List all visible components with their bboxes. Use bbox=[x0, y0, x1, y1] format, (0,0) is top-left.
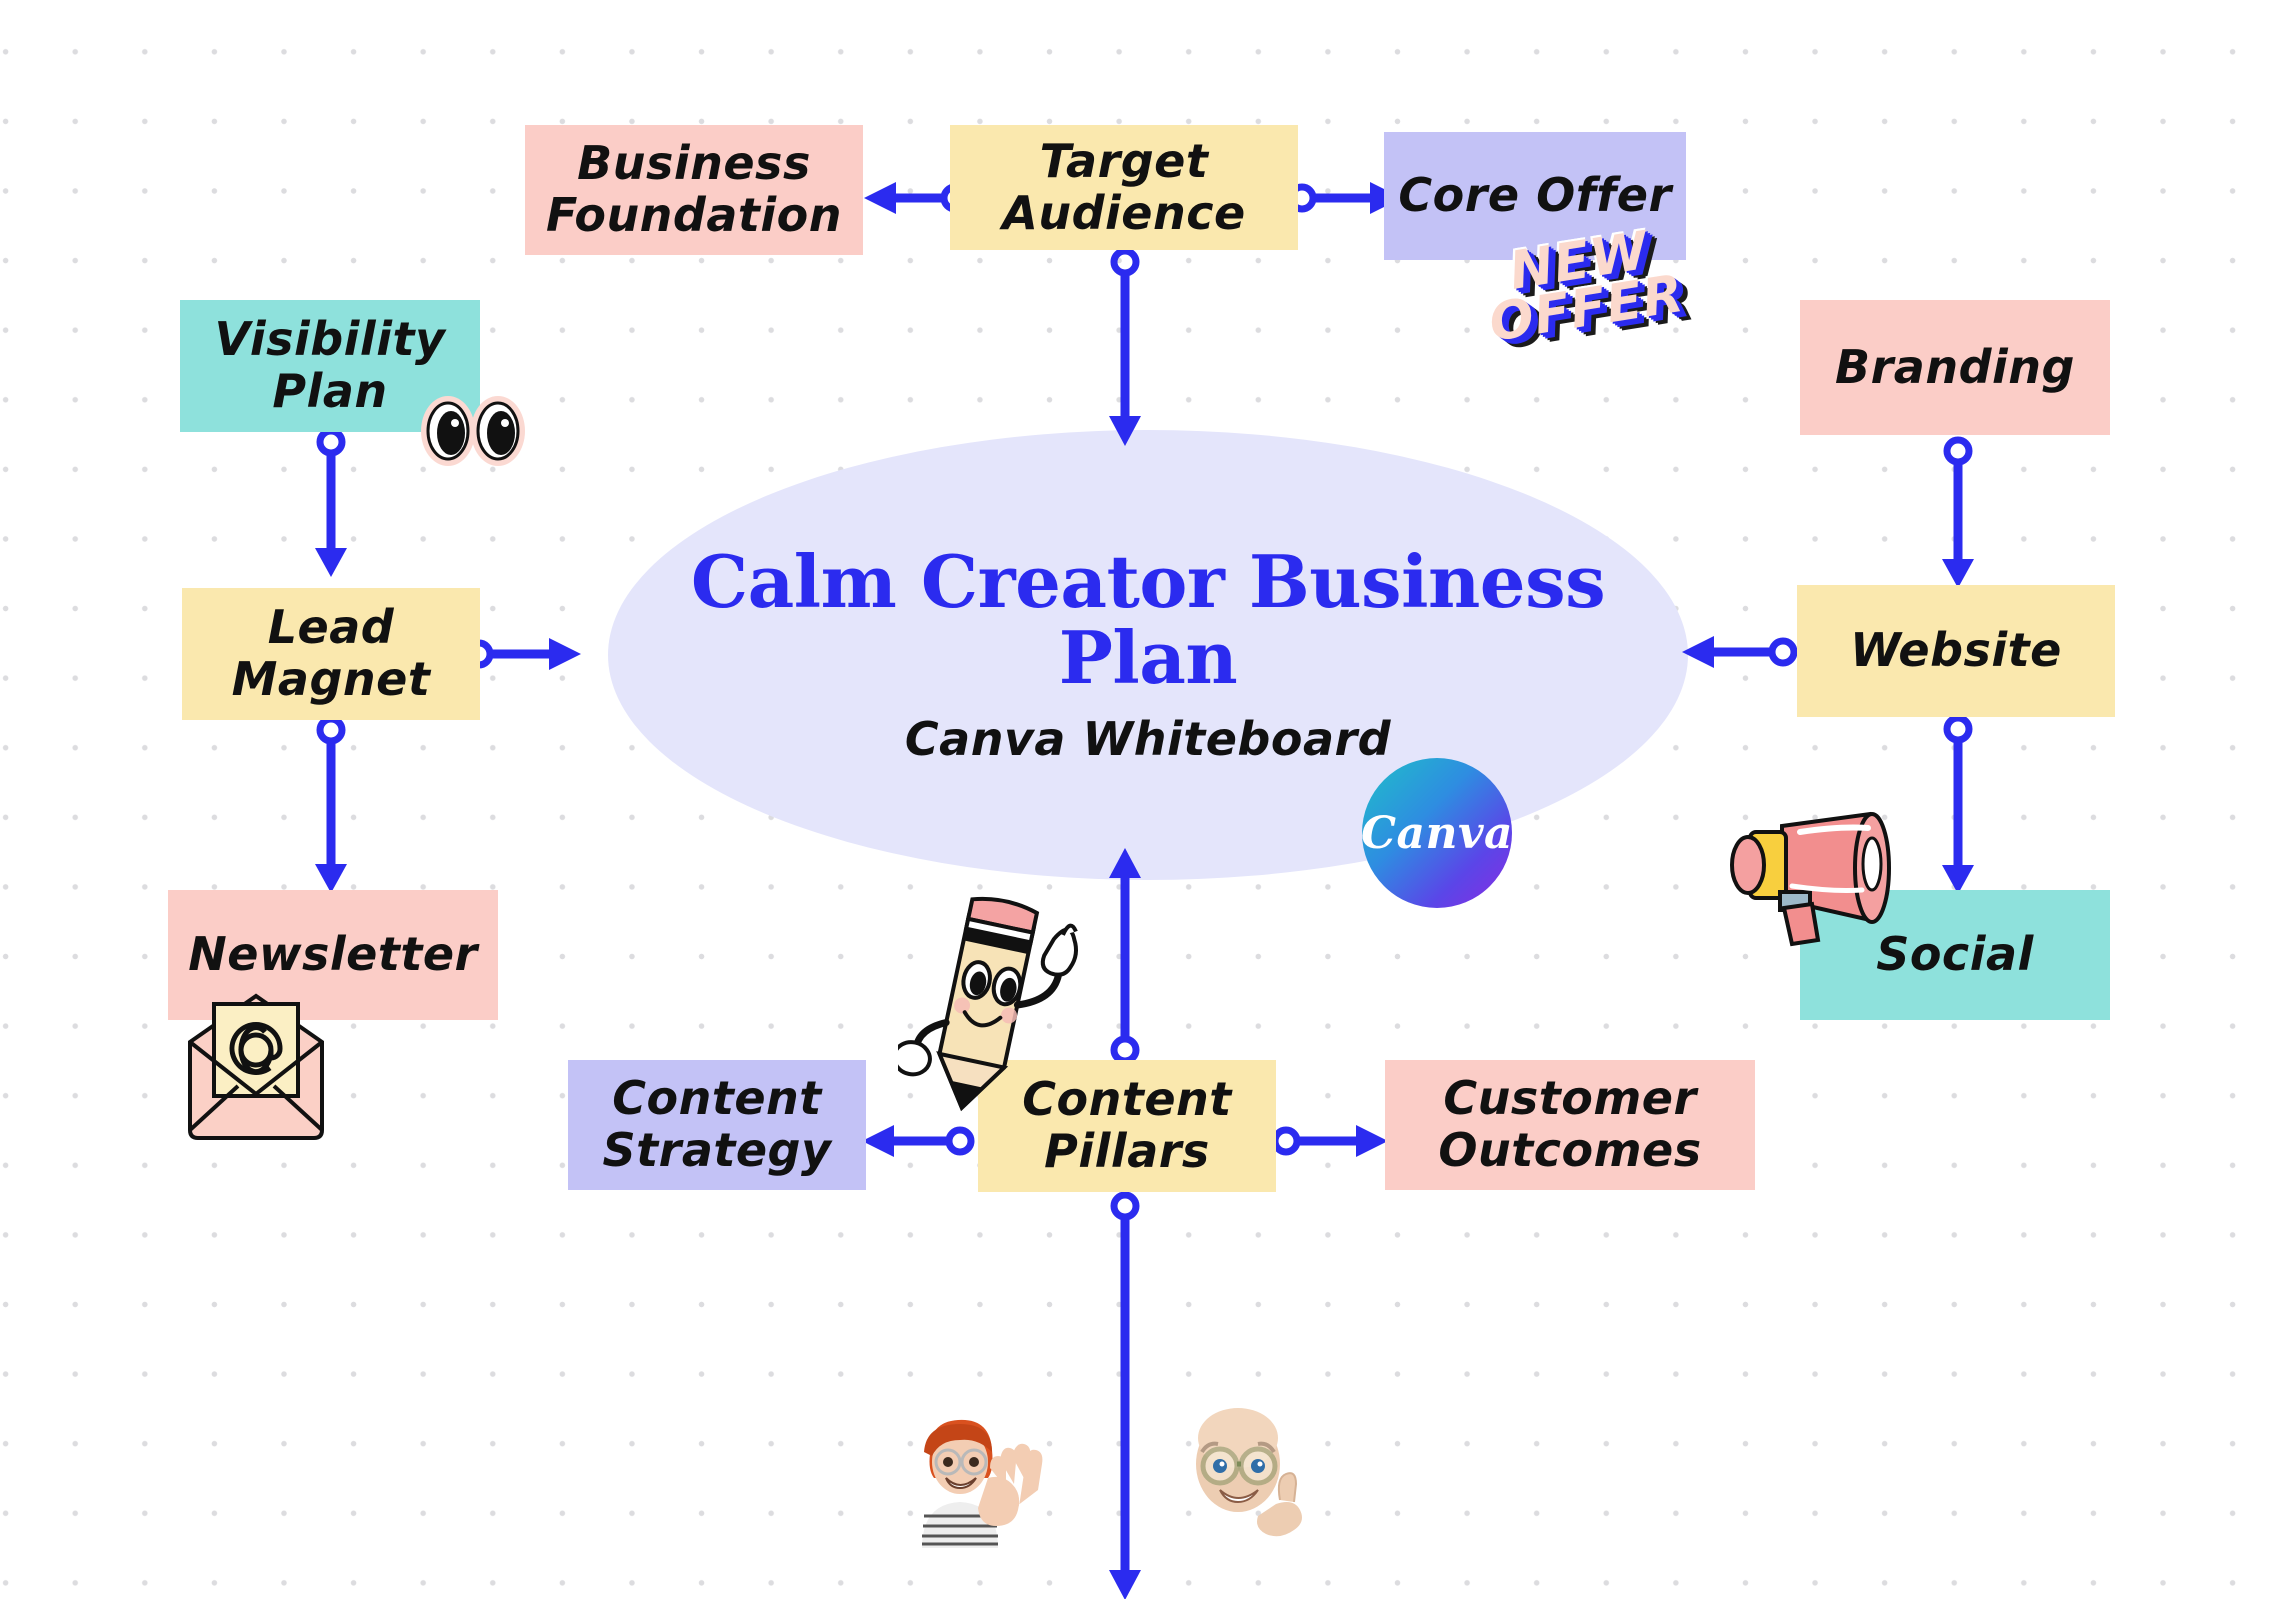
connector-content-pillars-to-customer-outcomes[interactable] bbox=[1272, 1121, 1392, 1161]
connector-target-audience-to-hub[interactable] bbox=[1105, 248, 1145, 448]
eyes-icon bbox=[420, 395, 526, 467]
node-customer-outcomes-line2: Outcomes bbox=[1438, 1125, 1701, 1177]
node-business-foundation-line2: Foundation bbox=[546, 190, 842, 242]
canva-logo-label: Canva bbox=[1361, 808, 1513, 859]
node-content-strategy-line2: Strategy bbox=[603, 1125, 832, 1177]
page-subtitle: Canva Whiteboard bbox=[905, 712, 1391, 766]
canva-logo-badge: Canva bbox=[1362, 758, 1512, 908]
node-core-offer-line1: Core Offer bbox=[1398, 170, 1671, 222]
node-target-audience[interactable]: Target Audience bbox=[950, 125, 1298, 250]
connector-content-pillars-to-below[interactable] bbox=[1105, 1192, 1145, 1599]
node-branding-line1: Branding bbox=[1835, 342, 2075, 394]
page-title: Calm Creator Business Plan bbox=[608, 544, 1688, 697]
node-newsletter-line1: Newsletter bbox=[188, 929, 477, 981]
connector-visibility-plan-to-lead-magnet[interactable] bbox=[311, 428, 351, 578]
node-business-foundation-line1: Business bbox=[546, 138, 842, 190]
node-content-pillars-line2: Pillars bbox=[1022, 1126, 1232, 1178]
node-content-strategy[interactable]: Content Strategy bbox=[568, 1060, 866, 1190]
megaphone-icon bbox=[1722, 808, 1902, 948]
waving-woman-avatar bbox=[900, 1412, 1050, 1552]
whiteboard-canvas[interactable]: Calm Creator Business Plan Canva Whitebo… bbox=[0, 0, 2278, 1599]
connector-content-pillars-to-content-strategy[interactable] bbox=[860, 1121, 978, 1161]
pencil-mascot-icon bbox=[898, 892, 1088, 1127]
connector-lead-magnet-to-hub[interactable] bbox=[465, 634, 585, 674]
connector-content-pillars-to-hub[interactable] bbox=[1105, 846, 1145, 1064]
node-customer-outcomes[interactable]: Customer Outcomes bbox=[1385, 1060, 1755, 1190]
connector-branding-to-website[interactable] bbox=[1938, 437, 1978, 589]
connector-lead-magnet-to-newsletter[interactable] bbox=[311, 716, 351, 894]
thumbs-up-man-avatar bbox=[1180, 1408, 1310, 1548]
node-content-strategy-line1: Content bbox=[603, 1073, 832, 1125]
node-target-audience-line1: Target bbox=[1002, 136, 1245, 188]
node-lead-magnet[interactable]: Lead Magnet bbox=[182, 588, 480, 720]
node-website[interactable]: Website bbox=[1797, 585, 2115, 717]
node-branding[interactable]: Branding bbox=[1800, 300, 2110, 435]
node-visibility-plan-line1: Visibility bbox=[215, 314, 446, 366]
node-website-line1: Website bbox=[1850, 625, 2062, 677]
node-business-foundation[interactable]: Business Foundation bbox=[525, 125, 863, 255]
email-envelope-icon bbox=[172, 990, 340, 1142]
connector-website-to-hub[interactable] bbox=[1678, 632, 1800, 672]
node-customer-outcomes-line1: Customer bbox=[1438, 1073, 1701, 1125]
node-visibility-plan-line2: Plan bbox=[215, 366, 446, 418]
node-target-audience-line2: Audience bbox=[1002, 188, 1245, 240]
central-hub-node[interactable]: Calm Creator Business Plan Canva Whitebo… bbox=[608, 430, 1688, 880]
node-lead-magnet-line1: Lead bbox=[232, 602, 431, 654]
node-lead-magnet-line2: Magnet bbox=[232, 654, 431, 706]
connector-website-to-social[interactable] bbox=[1938, 715, 1978, 895]
